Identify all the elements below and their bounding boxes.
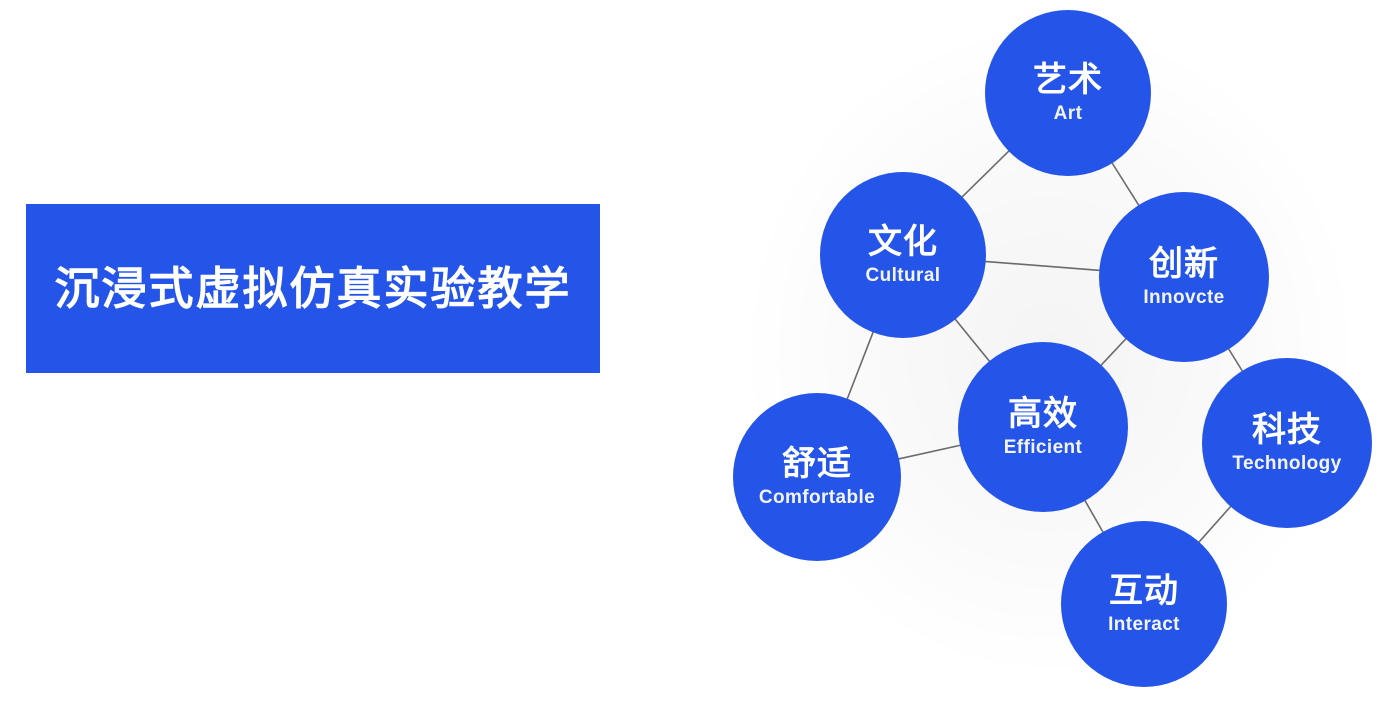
node-label-en: Cultural	[866, 266, 941, 285]
edge-technology-interact	[1198, 506, 1231, 543]
node-comfortable[interactable]: 舒适 Comfortable	[733, 393, 901, 561]
slide-canvas: 沉浸式虚拟仿真实验教学 艺术 Art 文化 Cultural 创新 Innovc…	[0, 0, 1392, 711]
node-label-en: Art	[1054, 104, 1083, 123]
node-label-en: Efficient	[1004, 438, 1083, 457]
node-efficient[interactable]: 高效 Efficient	[958, 342, 1128, 512]
node-label-cn: 高效	[1008, 397, 1078, 433]
node-technology[interactable]: 科技 Technology	[1202, 358, 1372, 528]
node-label-cn: 互动	[1109, 574, 1179, 610]
node-label-cn: 文化	[868, 225, 938, 261]
edge-cultural-comfortable	[847, 331, 873, 399]
page-title: 沉浸式虚拟仿真实验教学	[54, 264, 571, 314]
node-label-cn: 舒适	[782, 447, 852, 483]
node-label-cn: 科技	[1252, 413, 1322, 449]
node-interact[interactable]: 互动 Interact	[1061, 521, 1227, 687]
edge-cultural-efficient	[955, 319, 990, 362]
node-innovcte[interactable]: 创新 Innovcte	[1099, 192, 1269, 362]
node-label-en: Innovcte	[1143, 288, 1224, 307]
edge-efficient-interact	[1085, 500, 1104, 533]
node-label-en: Comfortable	[759, 488, 875, 507]
node-label-cn: 创新	[1149, 247, 1219, 283]
edge-cultural-innovcte	[985, 261, 1101, 270]
concept-network-diagram: 艺术 Art 文化 Cultural 创新 Innovcte 科技 Techno…	[700, 0, 1392, 711]
node-label-cn: 艺术	[1033, 63, 1103, 99]
edge-efficient-comfortable	[898, 445, 961, 459]
edge-art-innovcte	[1112, 162, 1139, 206]
node-cultural[interactable]: 文化 Cultural	[820, 172, 986, 338]
node-label-en: Technology	[1232, 454, 1341, 473]
edge-innovcte-technology	[1228, 348, 1242, 371]
node-art[interactable]: 艺术 Art	[985, 10, 1151, 176]
edge-innovcte-efficient	[1101, 338, 1127, 366]
title-banner: 沉浸式虚拟仿真实验教学	[26, 204, 600, 373]
node-label-en: Interact	[1108, 615, 1180, 634]
edge-art-cultural	[962, 150, 1010, 197]
